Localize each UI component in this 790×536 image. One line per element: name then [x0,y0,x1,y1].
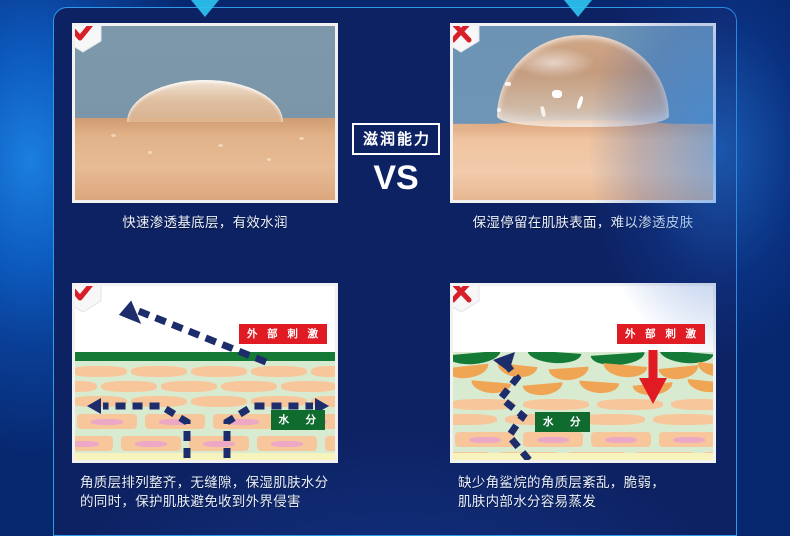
caption-good-moisturizing: 快速渗透基底层，有效水润 [72,213,338,232]
photo-absorbed-droplet [72,23,338,203]
skin-surface [453,120,713,200]
skin-surface [75,118,335,200]
photo-content [453,26,713,200]
vs-label-moisturizing: 滋润能力 [352,123,440,155]
loose-flake [687,379,713,394]
corneocyte [653,414,713,425]
cross-mark-badge-icon [450,283,481,314]
cell-nucleus [673,437,705,443]
diagram-content: 外 部 刺 激 [453,286,713,460]
comparison-row-moisturizing: 快速渗透基底层，有效水润 滋润能力 VS [54,23,737,275]
vs-divider-moisturizing: 滋润能力 VS [342,123,450,197]
photo-beaded-droplet [450,23,716,203]
bead-highlight [552,90,562,98]
comparison-cell-good-repair: 外 部 刺 激 [72,283,340,511]
water-bead-shape [497,35,669,127]
moisture-escape-arrow [471,344,601,463]
promo-page: 快速渗透基底层，有效水润 滋润能力 VS [0,0,790,536]
caption-bad-repair: 缺少角鲨烷的角质层紊乱，脆弱， 肌肤内部水分容易蒸发 [450,473,716,511]
caption-line-1: 角质层排列整齐，无缝隙，保湿肌肤水分 [80,475,328,490]
tag-moisture: 水 分 [271,410,326,430]
tag-external-stimulus: 外 部 刺 激 [239,324,327,344]
bead-highlight [505,82,511,86]
bead-highlight [497,108,501,112]
diagram-intact-stratum-corneum: 外 部 刺 激 [72,283,338,463]
check-mark-badge-icon [72,23,103,54]
absorbed-droplet-shape [127,80,283,122]
tag-moisture: 水 分 [535,412,590,432]
vs-text-moisturizing: VS [342,159,450,197]
diagram-damaged-stratum-corneum: 外 部 刺 激 [450,283,716,463]
comparison-row-repair: 外 部 刺 激 [54,283,737,535]
tag-external-stimulus: 外 部 刺 激 [617,324,705,344]
cross-mark-badge-icon [450,23,481,54]
check-mark-badge-icon [72,283,103,314]
diagram-content: 外 部 刺 激 [75,286,335,460]
caption-good-repair: 角质层排列整齐，无缝隙，保湿肌肤水分 的同时，保护肌肤避免收到外界侵害 [72,473,338,511]
content-panel: 快速渗透基底层，有效水润 滋润能力 VS [53,7,737,536]
chevron-down-icon-left [191,0,219,17]
comparison-cell-bad-moisturizing: 保湿停留在肌肤表面，难以渗透皮肤 [450,23,718,232]
caption-line-2: 的同时，保护肌肤避免收到外界侵害 [80,494,301,509]
photo-content [75,26,335,200]
caption-line-2: 肌肤内部水分容易蒸发 [458,494,596,509]
caption-line-1: 缺少角鲨烷的角质层紊乱，脆弱， [458,475,665,490]
comparison-cell-good-moisturizing: 快速渗透基底层，有效水润 [72,23,340,232]
cell-nucleus [605,437,637,443]
comparison-cell-bad-repair: 外 部 刺 激 [450,283,718,511]
loose-flake [696,362,713,378]
stimulus-penetration-arrow [635,348,679,412]
caption-bad-moisturizing: 保湿停留在肌肤表面，难以渗透皮肤 [450,213,716,232]
corneocyte [311,366,335,377]
chevron-down-icon-right [564,0,592,17]
